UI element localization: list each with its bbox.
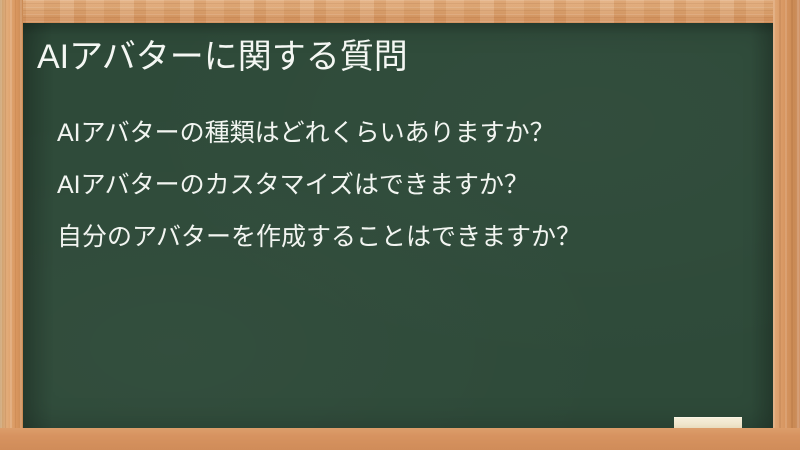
- chalkboard-surface: AIアバターに関する質問 AIアバターの種類はどれくらいありますか？ AIアバタ…: [23, 23, 773, 428]
- question-list: AIアバターの種類はどれくらいありますか？ AIアバターのカスタマイズはできます…: [57, 107, 757, 263]
- question-item-1: AIアバターの種類はどれくらいありますか？: [57, 107, 757, 159]
- frame-rail-right: [773, 0, 800, 450]
- frame-ledge-bottom: [0, 428, 800, 450]
- question-item-2: AIアバターのカスタマイズはできますか？: [57, 159, 757, 211]
- chalkboard-slide: AIアバターに関する質問 AIアバターの種類はどれくらいありますか？ AIアバタ…: [0, 0, 800, 450]
- chalk-eraser-icon: [674, 417, 742, 428]
- question-item-3: 自分のアバターを作成することはできますか？: [57, 211, 757, 263]
- slide-title: AIアバターに関する質問: [37, 35, 737, 79]
- frame-rail-top: [0, 0, 800, 23]
- frame-rail-left: [0, 0, 23, 450]
